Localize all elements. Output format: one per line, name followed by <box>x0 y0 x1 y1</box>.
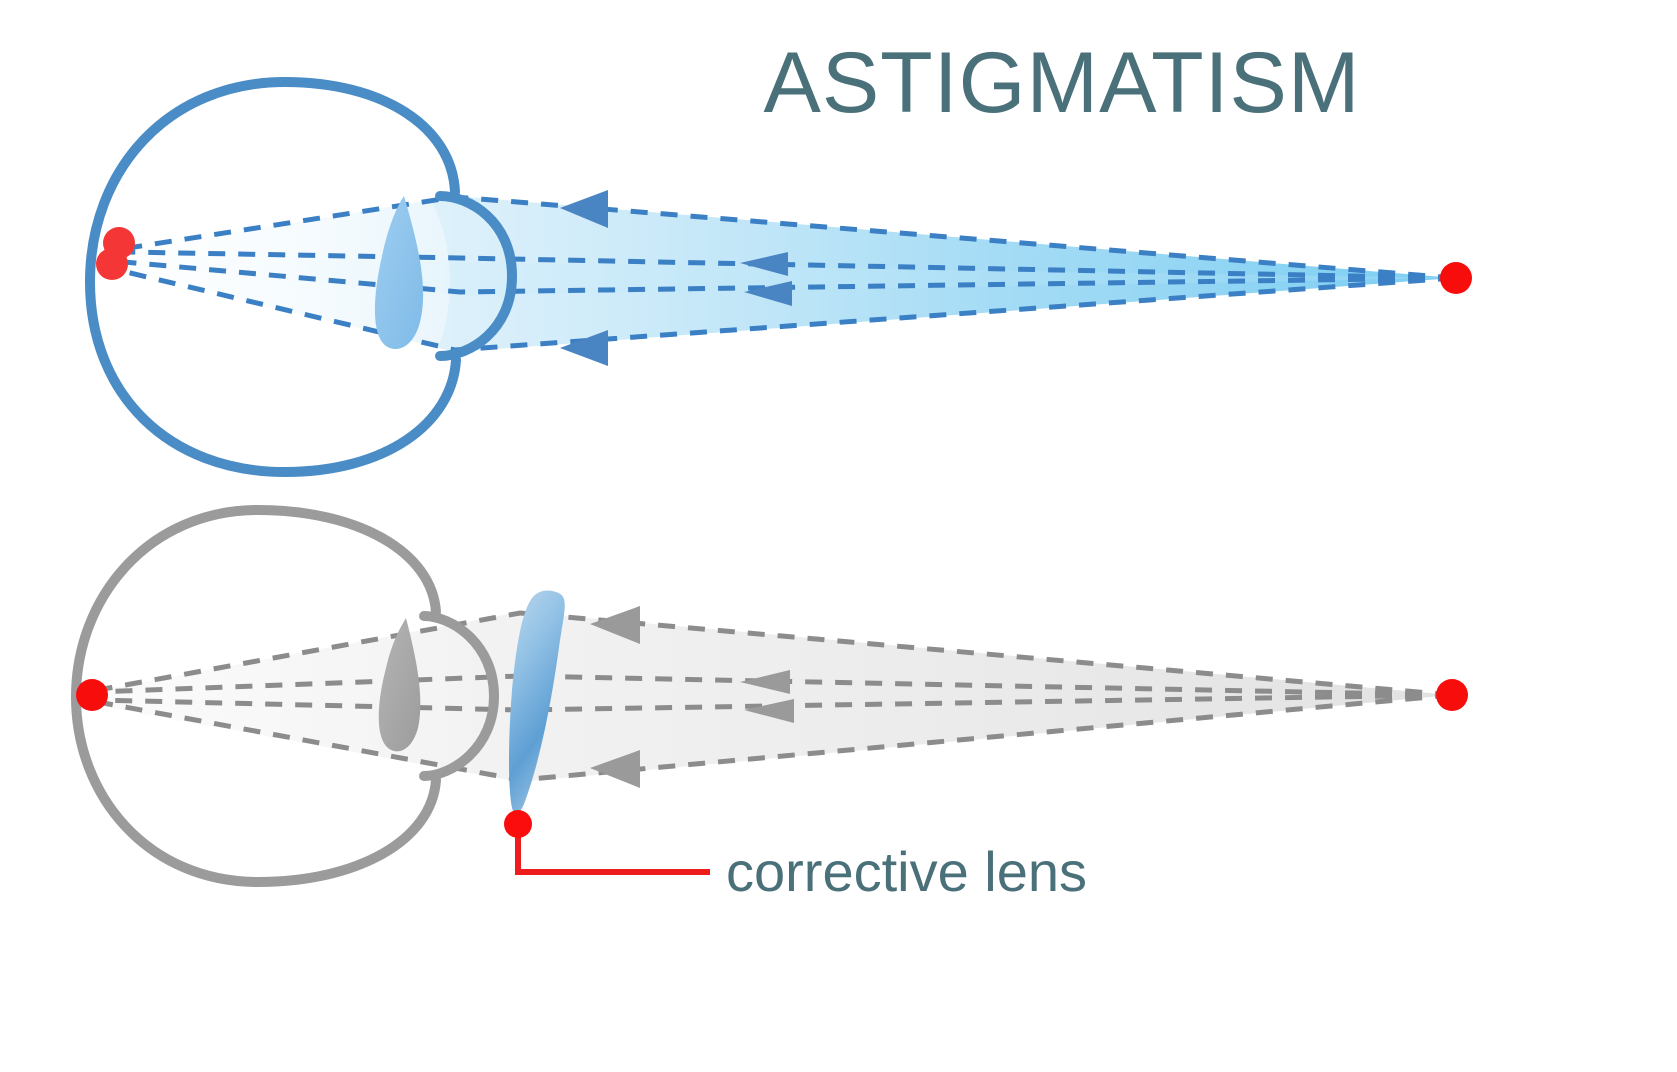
annotation-leader-line <box>518 828 710 872</box>
page-title: ASTIGMATISM <box>763 35 1360 131</box>
light-beam-bottom <box>100 612 1452 782</box>
focal-point-dot <box>76 679 108 711</box>
corrective-lens-annotation: corrective lens <box>504 810 1087 903</box>
annotation-marker-dot <box>504 810 532 838</box>
light-source-dot <box>1440 262 1472 294</box>
astigmatic-eye-panel <box>90 82 1472 472</box>
diagram-canvas: ASTIGMATISM <box>0 0 1677 1072</box>
focal-point-dot <box>96 248 128 280</box>
corrected-eye-panel: corrective lens <box>76 510 1468 903</box>
light-beam-top <box>90 96 1455 468</box>
corrective-lens-label: corrective lens <box>726 840 1087 903</box>
astigmatism-diagram: ASTIGMATISM <box>0 0 1677 1072</box>
light-source-dot <box>1436 679 1468 711</box>
beam-envelope-outer <box>100 612 1452 782</box>
